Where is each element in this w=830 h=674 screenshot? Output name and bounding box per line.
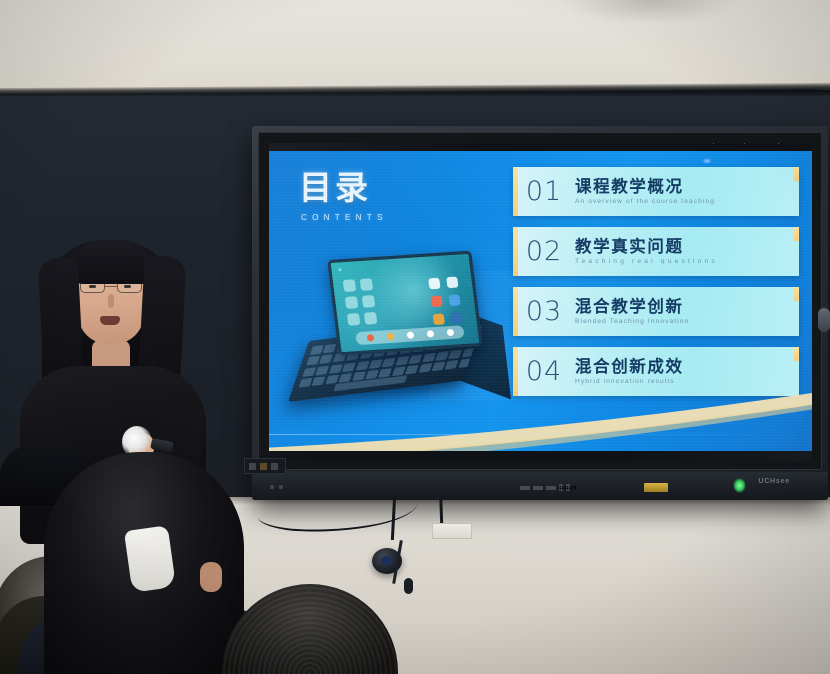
item-title-en: Blended Teaching Innovation: [575, 319, 791, 326]
system-monitor-overlay: FPS 60fps GPU 8% CPU 19% 内存: [682, 143, 808, 145]
status-led-blue: [702, 158, 712, 164]
item-title-cn: 混合教学创新: [575, 298, 791, 316]
item-title-en: Teaching real questions: [575, 259, 791, 266]
presenter-nose: [108, 294, 114, 308]
status-divider: [778, 143, 779, 144]
interactive-display[interactable]: FPS 60fps GPU 8% CPU 19% 内存: [252, 126, 828, 500]
display-port-cluster[interactable]: [520, 484, 570, 491]
presenter-hair-front: [70, 240, 154, 284]
tablet-camera-icon: [338, 268, 341, 271]
power-led-indicator: [733, 478, 746, 493]
item-number: 03: [513, 296, 575, 327]
item-number: 01: [513, 176, 575, 207]
item-title-cn: 教学真实问题: [575, 238, 791, 256]
display-screen[interactable]: FPS 60fps GPU 8% CPU 19% 内存: [269, 143, 812, 461]
status-divider: [713, 143, 714, 144]
classroom-photo-scene: FPS 60fps GPU 8% CPU 19% 内存: [0, 0, 830, 674]
item-text-block: 混合教学创新 Blended Teaching Innovation: [575, 298, 799, 326]
status-divider: [744, 143, 745, 144]
list-item[interactable]: 03 混合教学创新 Blended Teaching Innovation: [513, 287, 799, 336]
tablet-illustration: [309, 247, 499, 402]
tablet-widget-grid: [343, 278, 378, 326]
slide-subtitle: CONTENTS: [301, 213, 388, 222]
item-number: 02: [513, 236, 575, 267]
tablet-app-icons: [428, 277, 463, 326]
item-title-en: Hybrid innovation results: [575, 379, 791, 386]
tablet-screen: [327, 251, 483, 356]
audience-ear: [200, 562, 222, 592]
display-bezel: FPS 60fps GPU 8% CPU 19% 内存: [258, 132, 822, 470]
list-item[interactable]: 01 课程教学概况 An overview of the course teac…: [513, 167, 799, 216]
item-title-en: An overview of the course teaching: [575, 199, 791, 206]
item-text-block: 教学真实问题 Teaching real questions: [575, 238, 799, 266]
status-memory-key: 内存: [785, 143, 794, 144]
list-item[interactable]: 04 混合创新成效 Hybrid innovation results: [513, 347, 799, 396]
usb-port-icon[interactable]: [644, 483, 668, 492]
item-number: 04: [513, 356, 575, 387]
item-title-cn: 课程教学概况: [575, 178, 791, 196]
display-left-ports[interactable]: [244, 458, 286, 474]
mic-connector: [404, 578, 413, 594]
audience-face-mask: [124, 525, 176, 593]
slide-contents-list: 01 课程教学概况 An overview of the course teac…: [513, 167, 799, 407]
status-memory: 内存 4.8G: [783, 143, 808, 144]
display-brand-logo: UCHsee: [758, 478, 790, 485]
item-text-block: 混合创新成效 Hybrid innovation results: [575, 358, 799, 386]
wall-upper: [0, 0, 830, 94]
presenter-mouth: [100, 316, 120, 325]
display-side-control-knob[interactable]: [818, 308, 830, 332]
item-text-block: 课程教学概况 An overview of the course teachin…: [575, 178, 799, 206]
item-title-cn: 混合创新成效: [575, 358, 791, 376]
list-item[interactable]: 02 教学真实问题 Teaching real questions: [513, 227, 799, 276]
presentation-slide[interactable]: 目录 CONTENTS: [269, 151, 812, 451]
wall-outlet-plate: [432, 523, 472, 539]
slide-title: 目录: [299, 171, 371, 204]
slide-footer-line: [269, 434, 812, 435]
